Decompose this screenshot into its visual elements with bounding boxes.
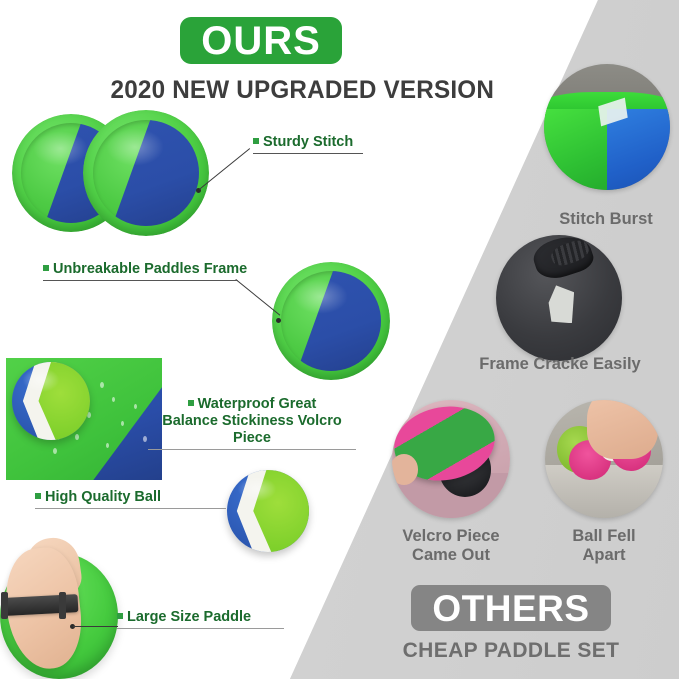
high-quality-ball-image: [227, 470, 309, 552]
bullet-square-icon: [43, 265, 49, 271]
comparison-infographic: OURS 2020 NEW UPGRADED VERSION Sturdy St…: [0, 0, 679, 679]
others-subtitle: CHEAP PADDLE SET: [381, 639, 641, 663]
tennis-ball-on-paddle: [12, 362, 90, 440]
paddle-inner: [93, 120, 199, 226]
strap-buckle-right: [59, 592, 66, 618]
bullet-square-icon: [253, 138, 259, 144]
callout-text: High Quality Ball: [45, 489, 161, 505]
callout-high-quality-ball: High Quality Ball: [35, 489, 226, 509]
label-ball-fell-apart: Ball Fell Apart: [538, 527, 670, 566]
callout-unbreakable-frame: Unbreakable Paddles Frame: [43, 261, 238, 281]
callout-rule: [117, 628, 284, 629]
callout-waterproof-velcro: Waterproof Great Balance Stickiness Volc…: [148, 396, 356, 450]
hand-holding-paddle-photo: [0, 553, 118, 679]
paddle-inner: [281, 271, 381, 371]
label-stitch-burst: Stitch Burst: [500, 210, 679, 229]
callout-text-line1: Waterproof Great: [198, 396, 317, 412]
callout-rule: [43, 280, 238, 281]
paddle-hand-strap: [4, 594, 78, 615]
callout-text: Sturdy Stitch: [263, 134, 353, 150]
ours-subtitle: 2020 NEW UPGRADED VERSION: [111, 76, 470, 105]
callout-anchor-dot: [276, 318, 281, 323]
callout-label: Waterproof Great Balance Stickiness Volc…: [148, 396, 356, 447]
paddle-sheen: [293, 279, 348, 314]
callout-label: Sturdy Stitch: [253, 134, 363, 151]
strap-buckle-left: [1, 592, 8, 618]
bullet-square-icon: [35, 493, 41, 499]
paddle-sheen: [106, 128, 164, 165]
paddle-sheen: [33, 131, 88, 166]
callout-leader-line: [235, 279, 280, 316]
callout-rule: [253, 153, 363, 154]
callout-rule: [148, 449, 356, 450]
callout-rule: [35, 508, 226, 509]
ball-gloss: [23, 368, 59, 391]
callout-label: Unbreakable Paddles Frame: [43, 261, 238, 278]
label-velcro-piece-came-out: Velcro Piece Came Out: [378, 527, 524, 566]
callout-text-line2: Balance Stickiness Volcro Piece: [162, 413, 341, 446]
callout-sturdy-stitch: Sturdy Stitch: [253, 134, 363, 154]
callout-large-size-paddle: Large Size Paddle: [117, 609, 284, 629]
stitch-burst-photo: [544, 64, 670, 190]
hand-finger: [392, 454, 418, 485]
callout-label: Large Size Paddle: [117, 609, 284, 626]
others-badge: OTHERS: [411, 585, 611, 631]
bullet-square-icon: [117, 613, 123, 619]
callout-text: Unbreakable Paddles Frame: [53, 261, 247, 277]
ball-fell-apart-photo: [545, 400, 663, 518]
label-frame-cracke-easily: Frame Cracke Easily: [442, 355, 678, 374]
ours-badge: OURS: [180, 17, 342, 64]
callout-label: High Quality Ball: [35, 489, 226, 506]
ball-gloss: [238, 477, 276, 502]
bullet-square-icon: [188, 400, 194, 406]
others-badge-label: OTHERS: [432, 590, 589, 627]
callout-leader-line: [73, 626, 118, 627]
paddle-pair-right: [83, 110, 209, 236]
hand-holding-ball: [587, 400, 658, 459]
velcro-came-out-photo: [392, 400, 510, 518]
callout-text: Large Size Paddle: [127, 609, 251, 625]
frame-crack-photo: [496, 235, 622, 361]
ours-badge-label: OURS: [201, 21, 321, 61]
single-paddle: [272, 262, 390, 380]
